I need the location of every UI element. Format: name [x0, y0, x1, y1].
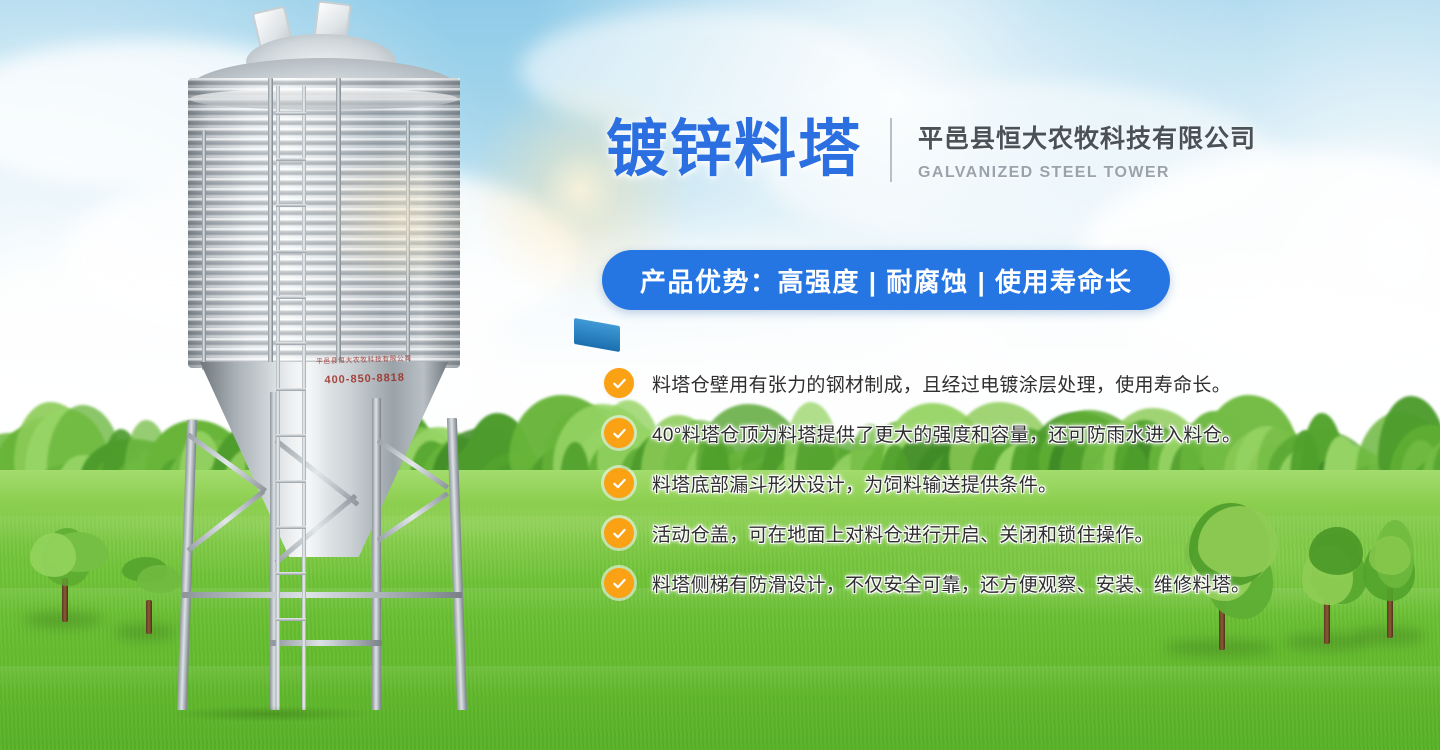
product-advantage-text: 产品优势：高强度 | 耐腐蚀 | 使用寿命长 — [640, 262, 1132, 299]
feature-list: 料塔仓壁用有张力的钢材制成，且经过电镀涂层处理，使用寿命长。40°料塔仓顶为料塔… — [604, 358, 1434, 608]
silo-rail — [182, 592, 462, 598]
check-icon — [604, 418, 634, 448]
check-icon — [604, 368, 634, 398]
title-row: 镀锌料塔 平邑县恒大农牧科技有限公司 GALVANIZED STEEL TOWE… — [606, 118, 1256, 182]
silo-corrugation — [188, 78, 460, 368]
feature-item: 40°料塔仓顶为料塔提供了更大的强度和容量，还可防雨水进入料仓。 — [604, 408, 1434, 458]
ladder-rung — [276, 434, 306, 437]
ladder-rung — [276, 342, 306, 345]
silo-body — [188, 78, 460, 368]
ladder-rung — [276, 618, 306, 621]
tree-crown — [30, 533, 76, 577]
ladder-rung — [276, 388, 306, 391]
silo-leg — [447, 418, 467, 710]
silo-stiffener — [268, 78, 273, 370]
feature-item: 料塔底部漏斗形状设计，为饲料输送提供条件。 — [604, 458, 1434, 508]
foreground-tree — [30, 520, 100, 620]
ladder-rung — [276, 250, 306, 253]
ladder-rung — [276, 112, 306, 115]
ladder-rung — [276, 572, 306, 575]
feature-text: 活动仓盖，可在地面上对料仓进行开启、关闭和锁住操作。 — [652, 520, 1154, 547]
ladder-rung — [276, 158, 306, 161]
silo-ladder — [276, 86, 306, 710]
feature-text: 料塔侧梯有防滑设计，不仅安全可靠，还方便观察、安装、维修料塔。 — [652, 570, 1250, 597]
feature-text: 料塔底部漏斗形状设计，为饲料输送提供条件。 — [652, 470, 1057, 497]
banner-stage: 平邑县恒大农牧科技有限公司 400-850-8818 — [0, 0, 1440, 750]
ladder-rung — [276, 526, 306, 529]
title-divider — [890, 118, 892, 182]
ladder-rail — [302, 86, 306, 710]
ladder-rung — [276, 204, 306, 207]
product-advantage-badge: 产品优势：高强度 | 耐腐蚀 | 使用寿命长 — [602, 250, 1170, 310]
banner-content: 镀锌料塔 平邑县恒大农牧科技有限公司 GALVANIZED STEEL TOWE… — [600, 0, 1440, 750]
feature-text: 40°料塔仓顶为料塔提供了更大的强度和容量，还可防雨水进入料仓。 — [652, 420, 1241, 447]
ladder-rung — [276, 296, 306, 299]
silo-ground-shadow — [170, 706, 370, 722]
silo-product-image: 平邑县恒大农牧科技有限公司 400-850-8818 — [150, 0, 510, 750]
ladder-rung — [276, 480, 306, 483]
silo-brace — [186, 489, 265, 552]
feature-text: 料塔仓壁用有张力的钢材制成，且经过电镀涂层处理，使用寿命长。 — [652, 370, 1231, 397]
ladder-rail — [276, 86, 280, 710]
silo-leg — [177, 420, 197, 710]
silo-stiffener — [406, 120, 410, 370]
page-title: 镀锌料塔 — [606, 119, 862, 181]
title-side-block: 平邑县恒大农牧科技有限公司 GALVANIZED STEEL TOWER — [918, 119, 1256, 182]
silo-stiffener — [202, 130, 206, 370]
feature-item: 料塔侧梯有防滑设计，不仅安全可靠，还方便观察、安装、维修料塔。 — [604, 558, 1434, 608]
check-icon — [604, 518, 634, 548]
silo-rim — [190, 88, 458, 110]
subtitle-english: GALVANIZED STEEL TOWER — [918, 164, 1256, 182]
silo-decal: 平邑县恒大农牧科技有限公司 400-850-8818 — [304, 354, 426, 420]
decal-phone-text: 400-850-8818 — [304, 368, 425, 389]
feature-item: 活动仓盖，可在地面上对料仓进行开启、关闭和锁住操作。 — [604, 508, 1434, 558]
check-icon — [604, 568, 634, 598]
check-icon — [604, 468, 634, 498]
company-name: 平邑县恒大农牧科技有限公司 — [918, 119, 1256, 155]
silo-brace — [377, 491, 449, 542]
feature-item: 料塔仓壁用有张力的钢材制成，且经过电镀涂层处理，使用寿命长。 — [604, 358, 1434, 408]
silo-stiffener — [336, 78, 341, 370]
